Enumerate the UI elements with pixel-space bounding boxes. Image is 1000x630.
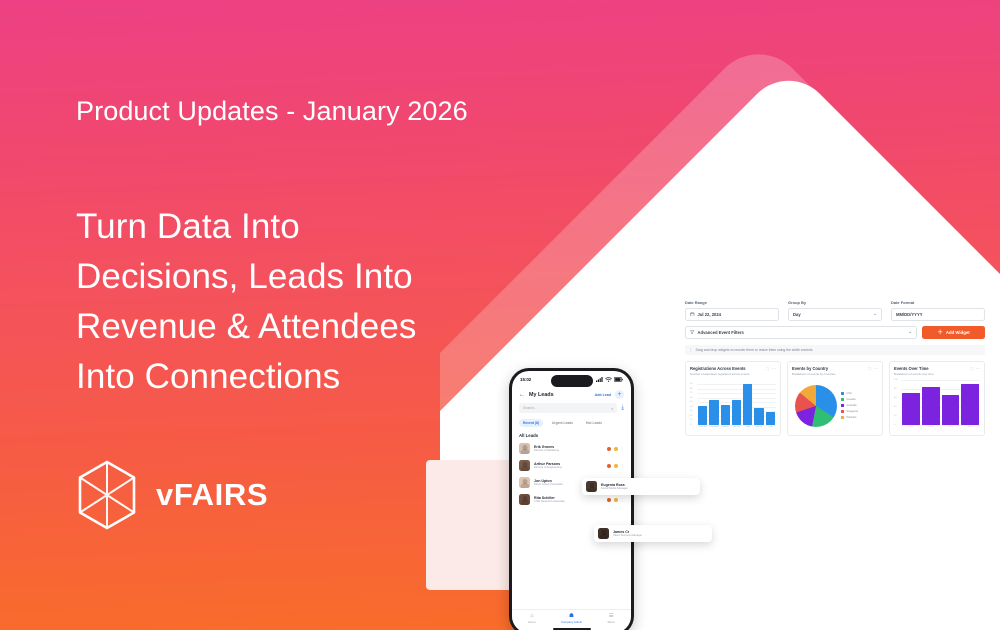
bar-series (698, 381, 775, 425)
x-axis: 2021202220232024 (902, 426, 979, 432)
lead-info: James Cr Client Success Manager (613, 530, 642, 537)
group-by-value: Day (793, 312, 801, 317)
bar[interactable] (732, 400, 741, 425)
widget-header: Registrations Across Events Number of at… (690, 366, 776, 376)
chart-events-over-time: 020406080100 2021202220232024 (894, 380, 980, 432)
legend-label: Pakistan (846, 416, 856, 419)
bar[interactable] (721, 405, 730, 425)
bar[interactable] (922, 387, 940, 424)
resize-icon[interactable]: ⛶ (970, 366, 973, 371)
x-tick: Gala (766, 426, 775, 432)
y-tick: 50 (690, 401, 692, 403)
widget-actions[interactable]: ⛶ ⋯ (970, 366, 980, 371)
lead-actions[interactable]: ⋮ (607, 497, 624, 502)
lead-actions[interactable]: ⋮ (607, 446, 624, 451)
widget-events-over-time[interactable]: Events Over Time Breakdown of events ove… (889, 361, 985, 436)
bar[interactable] (766, 412, 775, 424)
x-tick: Summit (721, 426, 730, 432)
y-tick: 80 (894, 388, 896, 390)
status-badge (607, 498, 611, 502)
status-badge (607, 447, 611, 451)
advanced-filters-value: Advanced Event Filters (698, 330, 744, 335)
dashboard-hint-bar: ⋮ Drag and drop widgets to reorder them … (685, 345, 985, 355)
battery-icon (614, 377, 623, 382)
chart-registrations-across-events: 0102030405060708090 Trade ShowConference… (690, 380, 776, 432)
nav-label: Company Admin (561, 620, 582, 624)
y-tick: 60 (894, 397, 896, 399)
headline-line-4: Into Connections (76, 352, 506, 402)
eyebrow-text: Product Updates - January 2026 (76, 96, 468, 127)
y-tick: 30 (690, 410, 692, 412)
date-format-field[interactable]: Date Format MM/DD/YYYY (891, 300, 985, 321)
y-tick: 20 (894, 415, 896, 417)
avatar (598, 528, 609, 539)
bar[interactable] (709, 400, 718, 425)
y-tick: 90 (690, 383, 692, 385)
chart-events-by-country: USACanadaAustraliaSingaporePakistan (792, 380, 878, 432)
widget-actions[interactable]: ⛶ ⋯ (766, 366, 776, 371)
legend-swatch (841, 404, 844, 407)
nav-item[interactable]: ☰Menu (591, 613, 631, 630)
group-by-label: Group By (788, 300, 882, 305)
more-icon[interactable]: ⋮ (620, 446, 624, 451)
advanced-filter-row: Advanced Event Filters ⌄ ＋ Add Widget (685, 326, 985, 339)
nav-label: Menu (608, 620, 615, 624)
y-axis: 0102030405060708090 (690, 380, 697, 425)
widget-grid: Registrations Across Events Number of at… (685, 361, 985, 436)
legend-swatch (841, 410, 844, 413)
group-by-select[interactable]: Day ⌄ (788, 308, 882, 321)
legend-item[interactable]: USA (841, 392, 858, 395)
legend-label: Australia (846, 404, 856, 407)
add-widget-button[interactable]: ＋ Add Widget (922, 326, 985, 339)
hero-text-column: Product Updates - January 2026 Turn Data… (76, 0, 546, 630)
y-tick: 60 (690, 397, 692, 399)
status-badge (614, 447, 618, 451)
headline-line-2: Decisions, Leads Into (76, 252, 506, 302)
filter-icon (690, 330, 695, 335)
y-tick: 100 (894, 379, 898, 381)
menu-icon: ☰ (591, 613, 631, 619)
floating-lead-card-2[interactable]: James Cr Client Success Manager (594, 525, 712, 542)
y-tick: 20 (690, 415, 692, 417)
phone-notch (551, 375, 593, 387)
analytics-dashboard: Date Range Jul 22, 2024 Group By Day ⌄ D… (685, 300, 985, 436)
widget-title: Events by Country (792, 366, 835, 371)
add-lead-label[interactable]: Add Lead (595, 393, 611, 397)
floating-lead-card-1[interactable]: Eugenia Ross Social Media Manager (582, 478, 700, 495)
resize-icon[interactable]: ⛶ (868, 366, 871, 371)
status-indicators (596, 377, 623, 382)
pie-slices (795, 385, 837, 427)
legend-label: Canada (846, 398, 855, 401)
lead-role: Social Media Manager (601, 487, 628, 490)
legend-item[interactable]: Pakistan (841, 416, 858, 419)
vfairs-logo: vFAIRS (76, 460, 268, 530)
x-tick: Job Fair (732, 426, 741, 432)
bar[interactable] (698, 406, 707, 424)
add-widget-label: Add Widget (946, 330, 970, 335)
info-icon: ⋮ (689, 348, 693, 352)
x-tick: 2024 (961, 426, 979, 432)
headline-line-3: Revenue & Attendees (76, 302, 506, 352)
legend-item[interactable]: Australia (841, 404, 858, 407)
lead-actions[interactable]: ⋮ (607, 463, 624, 468)
date-range-value: Jul 22, 2024 (698, 312, 722, 317)
widget-header: Events Over Time Breakdown of events ove… (894, 366, 980, 376)
status-badge (607, 464, 611, 468)
hexagon-cube-icon (76, 460, 138, 530)
legend-label: USA (846, 392, 851, 395)
lead-info: Eugenia Ross Social Media Manager (601, 483, 628, 490)
avatar (586, 481, 597, 492)
resize-icon[interactable]: ⛶ (766, 366, 769, 371)
status-badge (614, 464, 618, 468)
widget-subtitle: Breakdown of events over time (894, 372, 934, 376)
bar[interactable] (743, 384, 752, 424)
lead-tab[interactable]: Urgent Leads (548, 419, 577, 427)
pie-legend: USACanadaAustraliaSingaporePakistan (841, 392, 858, 419)
headline-line-1: Turn Data Into (76, 202, 506, 252)
page-headline: Turn Data IntoDecisions, Leads IntoReven… (76, 202, 506, 402)
y-tick: 40 (690, 406, 692, 408)
lead-role: Client Success Manager (613, 534, 642, 537)
date-format-label: Date Format (891, 300, 985, 305)
more-icon[interactable]: ⋯ (772, 366, 776, 371)
logo-wordmark: vFAIRS (156, 477, 268, 513)
legend-swatch (841, 398, 844, 401)
date-format-input[interactable]: MM/DD/YYYY (891, 308, 985, 321)
legend-swatch (841, 392, 844, 395)
dashboard-hint-text: Drag and drop widgets to reorder them or… (696, 348, 813, 352)
bar[interactable] (942, 395, 960, 425)
widget-actions[interactable]: ⛶ ⋯ (868, 366, 878, 371)
lead-tab[interactable]: Hot Leads (582, 419, 606, 427)
group-by-field[interactable]: Group By Day ⌄ (788, 300, 882, 321)
x-tick: 2022 (922, 426, 940, 432)
x-tick: 2021 (902, 426, 920, 432)
advanced-filters-field[interactable]: Advanced Event Filters ⌄ (685, 326, 917, 339)
y-tick: 80 (690, 388, 692, 390)
y-tick: 10 (690, 419, 692, 421)
date-range-field[interactable]: Date Range Jul 22, 2024 (685, 300, 779, 321)
advanced-filters-select[interactable]: Advanced Event Filters ⌄ (685, 326, 917, 339)
bar[interactable] (961, 384, 979, 424)
signal-icon (596, 377, 603, 382)
y-tick: 40 (894, 406, 896, 408)
date-range-label: Date Range (685, 300, 779, 305)
date-range-input[interactable]: Jul 22, 2024 (685, 308, 779, 321)
widget-registrations-across-events[interactable]: Registrations Across Events Number of at… (685, 361, 781, 436)
date-format-value: MM/DD/YYYY (896, 312, 923, 317)
y-axis: 020406080100 (894, 380, 901, 425)
wifi-icon (605, 377, 612, 382)
x-tick: Expo (743, 426, 752, 432)
download-icon[interactable]: ⤓ (621, 405, 624, 412)
widget-subtitle: Breakdown of events by countries (792, 372, 835, 376)
more-icon[interactable]: ⋮ (620, 497, 624, 502)
x-tick: Conference (709, 426, 718, 432)
more-icon[interactable]: ⋯ (874, 366, 878, 371)
calendar-icon (690, 312, 695, 317)
widget-events-by-country[interactable]: Events by Country Breakdown of events by… (787, 361, 883, 436)
plus-icon: ＋ (937, 328, 943, 336)
x-tick: Trade Show (698, 426, 707, 432)
more-icon[interactable]: ⋮ (620, 463, 624, 468)
chevron-down-icon: ⌄ (873, 311, 877, 317)
bar[interactable] (754, 408, 763, 424)
more-icon[interactable]: ⋯ (976, 366, 980, 371)
bar[interactable] (902, 393, 920, 425)
search-icon: ⌕ (611, 406, 613, 411)
y-tick: 0 (894, 424, 895, 426)
add-lead-button[interactable]: + (615, 390, 624, 399)
chevron-down-icon: ⌄ (908, 329, 912, 335)
widget-header: Events by Country Breakdown of events by… (792, 366, 878, 376)
legend-item[interactable]: Singapore (841, 410, 858, 413)
admin-icon: ☗ (552, 613, 592, 619)
status-badge (614, 498, 618, 502)
x-tick: 2023 (942, 426, 960, 432)
legend-item[interactable]: Canada (841, 398, 858, 401)
y-tick: 0 (690, 424, 691, 426)
bar-series (902, 381, 979, 425)
widget-title: Events Over Time (894, 366, 934, 371)
widget-title: Registrations Across Events (690, 366, 749, 371)
x-axis: Trade ShowConferenceSummitJob FairExpoWe… (698, 426, 775, 432)
y-tick: 70 (690, 392, 692, 394)
x-tick: Webinar (754, 426, 763, 432)
legend-label: Singapore (846, 410, 858, 413)
filter-row: Date Range Jul 22, 2024 Group By Day ⌄ D… (685, 300, 985, 321)
widget-subtitle: Number of attendees registered across ev… (690, 372, 749, 376)
legend-swatch (841, 416, 844, 419)
